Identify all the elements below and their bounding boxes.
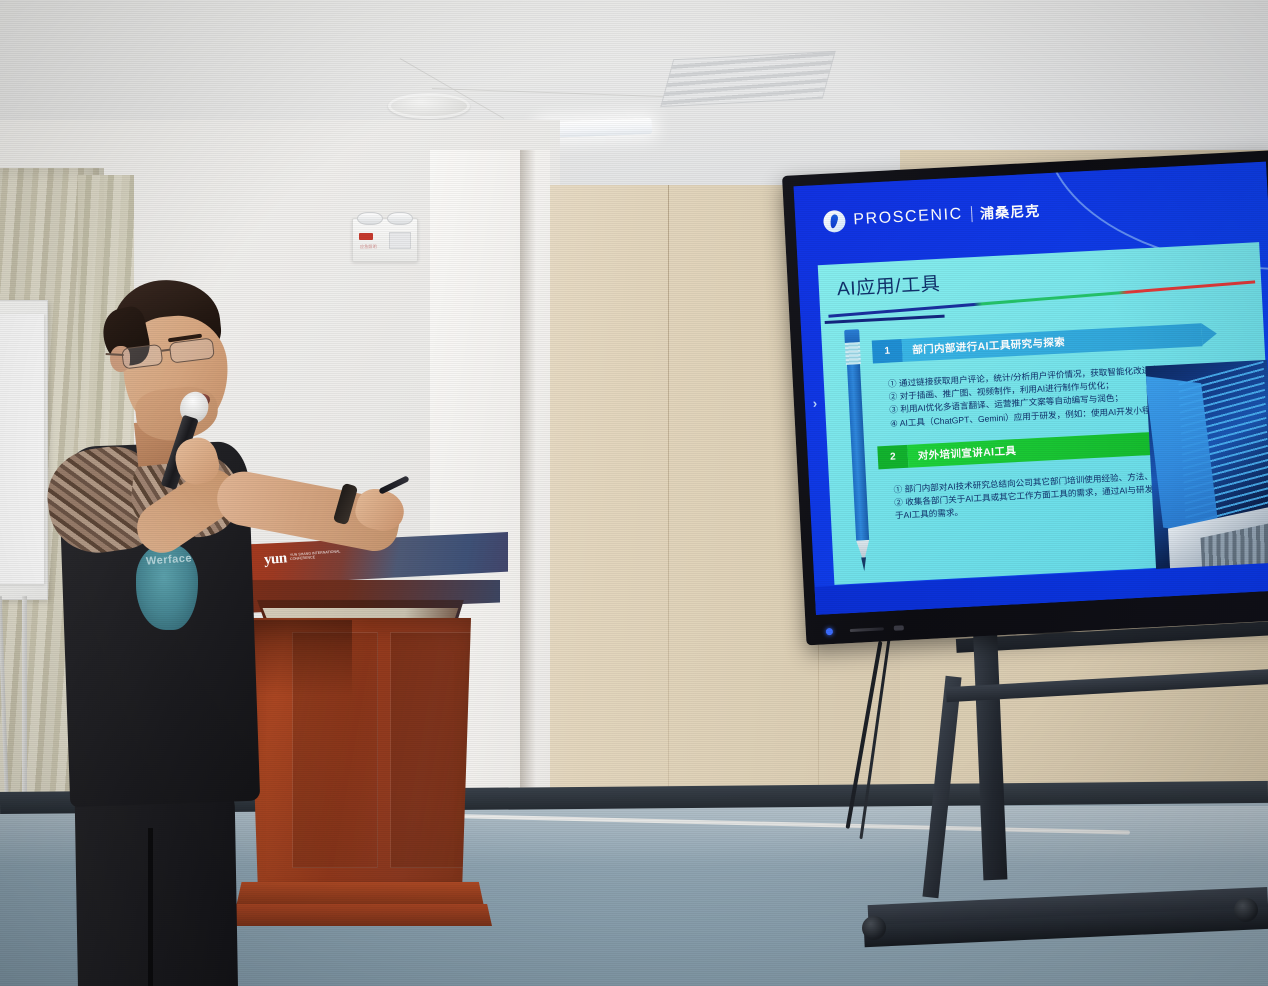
- slide-section-1: 1 部门内部进行AI工具研究与探索: [872, 323, 1203, 363]
- emergency-light-label: 应急照明: [360, 244, 377, 250]
- wall-display[interactable]: PROSCENIC 浦桑尼克 AI应用/工具: [782, 150, 1268, 645]
- slide-brand-header: PROSCENIC 浦桑尼克: [823, 200, 1041, 233]
- proscenic-logo-icon: [823, 210, 846, 233]
- presentation-room-photo: 应急照明 yun YUN SHANG INTERNATIONAL CONFERE…: [0, 0, 1268, 986]
- lamp-head-left-icon: [357, 212, 383, 225]
- tv-cart-stand: [846, 620, 1266, 986]
- slide-title: AI应用/工具: [836, 269, 941, 301]
- wall-corner-shadow: [520, 150, 536, 850]
- presentation-slide: PROSCENIC 浦桑尼克 AI应用/工具: [794, 162, 1268, 615]
- emergency-light-fixture: 应急照明: [352, 218, 418, 262]
- pencil-graphic: [843, 329, 873, 580]
- hvac-vent-icon: [660, 51, 836, 107]
- glasses-lens-right: [169, 337, 215, 363]
- laptop-photo: [1145, 360, 1268, 588]
- section-2-label: 对外培训宣讲AI工具: [917, 443, 1016, 463]
- display-bezel: PROSCENIC 浦桑尼克 AI应用/工具: [782, 150, 1268, 645]
- stand-cable: [859, 631, 891, 839]
- display-sensor-2: [894, 625, 904, 631]
- brand-name: PROSCENIC: [853, 206, 963, 230]
- section-1-banner: 部门内部进行AI工具研究与探索: [902, 323, 1203, 362]
- glasses-lens-left: [121, 344, 163, 370]
- lamp-head-right-icon: [387, 212, 413, 225]
- stand-column: [973, 620, 1008, 881]
- flipchart-paper: [0, 314, 44, 584]
- pencil-body: [847, 364, 869, 540]
- display-power-led: [826, 628, 833, 635]
- stand-leg: [922, 676, 961, 898]
- panel-seam: [668, 185, 669, 825]
- presenter-legs: [75, 787, 242, 986]
- display-screen[interactable]: PROSCENIC 浦桑尼克 AI应用/工具: [794, 162, 1268, 615]
- pencil-lead: [861, 557, 867, 571]
- brand-name-cn: 浦桑尼克: [980, 201, 1041, 224]
- pencil-cap: [844, 329, 860, 343]
- pencil-ferrule: [845, 342, 861, 365]
- section-1-number: 1: [872, 339, 903, 364]
- section-1-label: 部门内部进行AI工具研究与探索: [912, 334, 1066, 357]
- presenter: DIRI ADI Werface: [40, 268, 440, 968]
- stand-caster-right: [1234, 898, 1258, 922]
- emergency-badge: [359, 233, 373, 240]
- brand-divider: [970, 206, 972, 222]
- display-ir-sensor: [850, 627, 884, 632]
- pen-icon: [378, 475, 409, 494]
- slide-content-panel: AI应用/工具 1: [818, 242, 1268, 585]
- ceiling-speaker-icon: [388, 93, 470, 119]
- stand-caster-left: [862, 916, 886, 940]
- presenter-leg-split: [148, 828, 153, 986]
- slide-nav-next-icon[interactable]: ›: [807, 391, 822, 414]
- emergency-panel: [389, 232, 411, 249]
- section-2-number: 2: [877, 445, 908, 470]
